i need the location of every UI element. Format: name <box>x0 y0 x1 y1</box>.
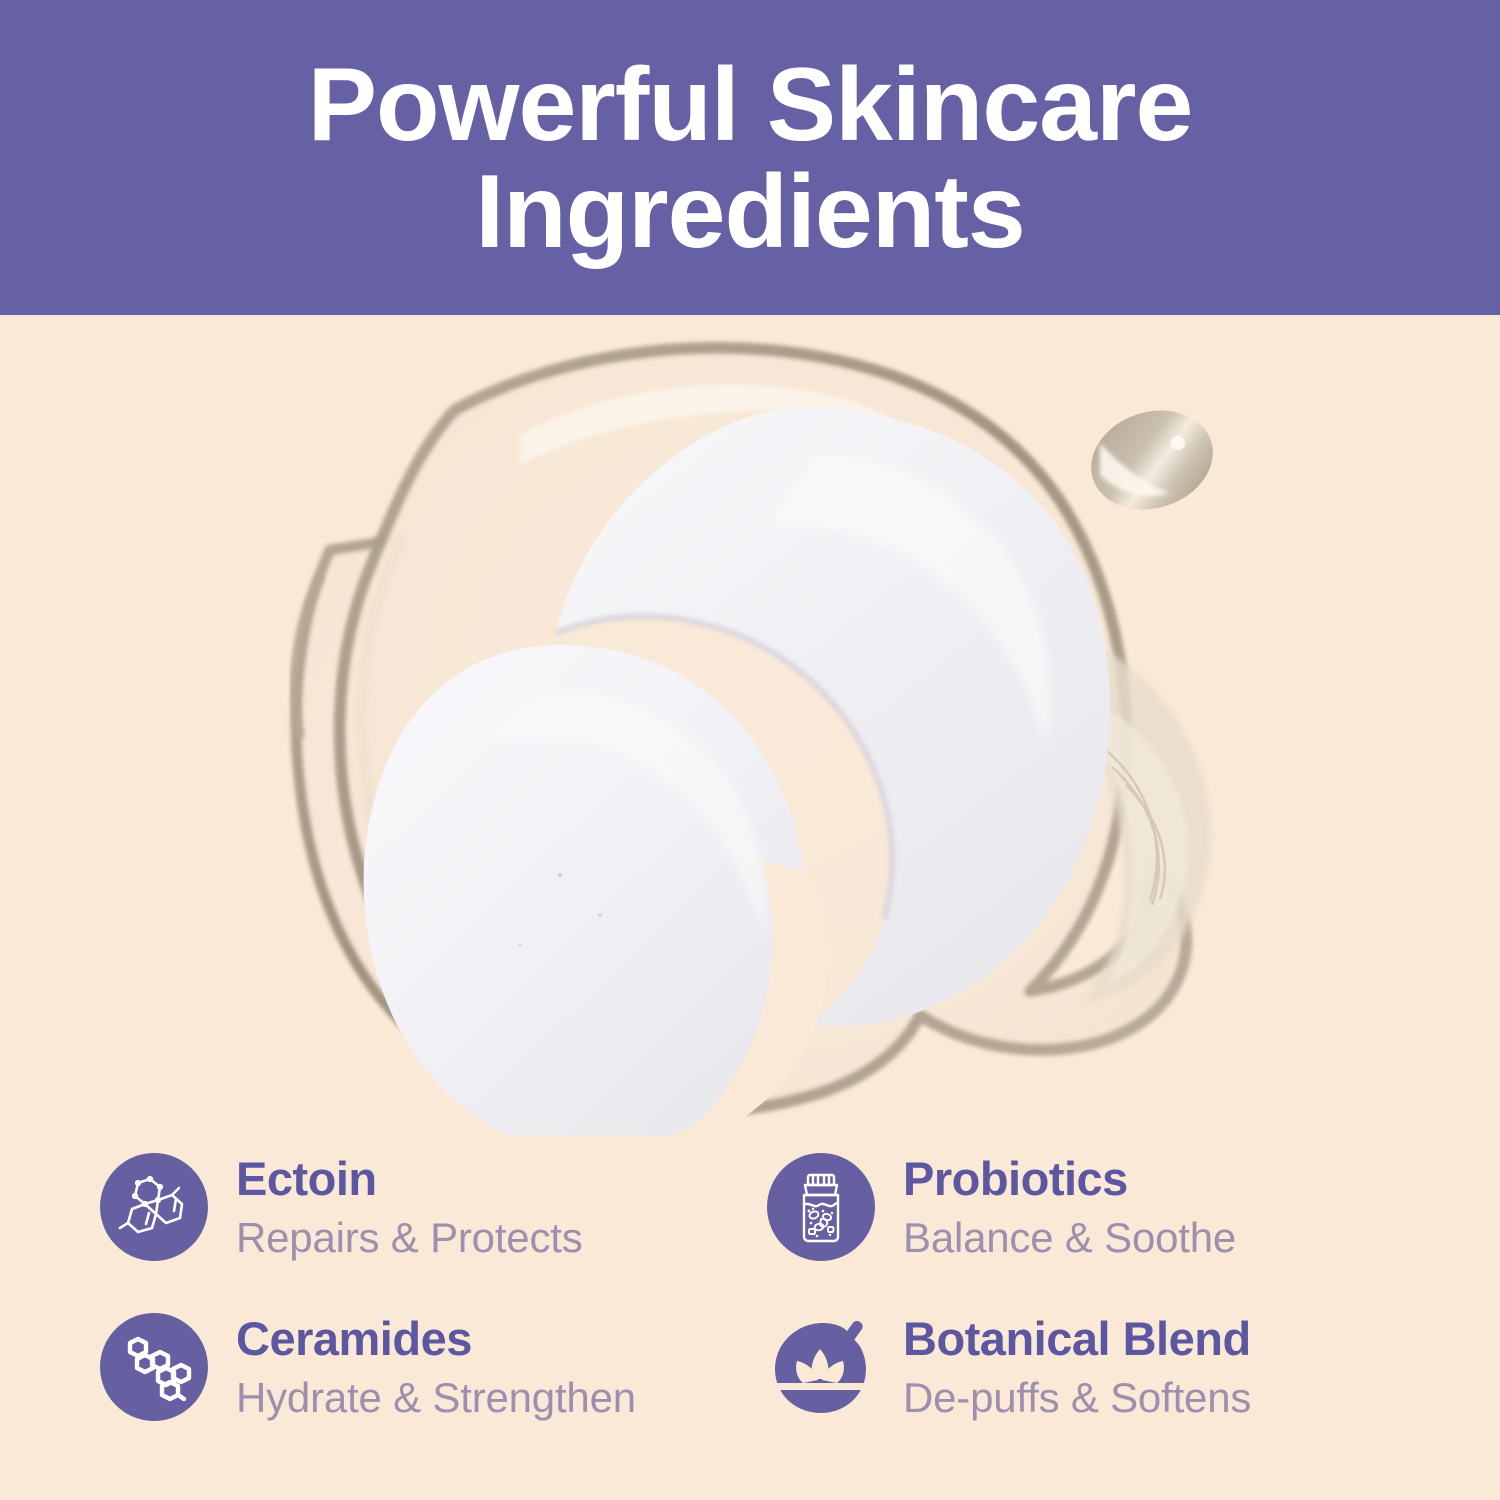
patch-speck <box>598 913 602 917</box>
patch-speck <box>558 873 563 878</box>
hero-product-photo <box>0 315 1500 1135</box>
hero-illustration <box>0 315 1500 1135</box>
ingredient-icon-badge <box>100 1153 208 1261</box>
infographic-root: Powerful Skincare Ingredients <box>0 0 1500 1500</box>
ingredient-title: Ceramides <box>236 1315 636 1362</box>
ingredient-subtitle: Hydrate & Strengthen <box>236 1377 636 1419</box>
ingredient-title: Probiotics <box>903 1155 1236 1202</box>
ingredient-subtitle: Repairs & Protects <box>236 1217 583 1259</box>
honeycomb-chain-icon <box>100 1313 208 1421</box>
ingredient-icon-badge <box>767 1313 875 1421</box>
ingredient-item-botanical-blend[interactable]: Botanical Blend De-puffs & Softens <box>767 1313 1251 1421</box>
ingredient-subtitle: De-puffs & Softens <box>903 1377 1251 1419</box>
probiotic-jar-icon <box>767 1153 875 1261</box>
ingredient-text: Ectoin Repairs & Protects <box>236 1155 583 1259</box>
ingredient-icon-badge <box>100 1313 208 1421</box>
gel-droplet <box>1078 395 1226 525</box>
ingredient-text: Ceramides Hydrate & Strengthen <box>236 1315 636 1419</box>
mortar-rim <box>776 1383 866 1390</box>
mortar-pestle-lotus-icon <box>767 1313 875 1421</box>
patch-speck <box>518 943 522 947</box>
ingredient-item-probiotics[interactable]: Probiotics Balance & Soothe <box>767 1153 1236 1261</box>
molecule-icon <box>100 1153 208 1261</box>
ingredient-title: Ectoin <box>236 1155 583 1202</box>
ingredient-icon-badge <box>767 1153 875 1261</box>
ingredient-text: Botanical Blend De-puffs & Softens <box>903 1315 1251 1419</box>
ingredient-title: Botanical Blend <box>903 1315 1251 1362</box>
ingredient-item-ectoin[interactable]: Ectoin Repairs & Protects <box>100 1153 583 1261</box>
page-title: Powerful Skincare Ingredients <box>0 52 1500 266</box>
ingredient-text: Probiotics Balance & Soothe <box>903 1155 1236 1259</box>
gel-droplet-specular <box>1171 436 1185 450</box>
header-banner: Powerful Skincare Ingredients <box>0 0 1500 315</box>
ingredient-item-ceramides[interactable]: Ceramides Hydrate & Strengthen <box>100 1313 636 1421</box>
ingredient-subtitle: Balance & Soothe <box>903 1217 1236 1259</box>
ingredients-grid: Ectoin Repairs & Protects <box>0 1135 1500 1500</box>
